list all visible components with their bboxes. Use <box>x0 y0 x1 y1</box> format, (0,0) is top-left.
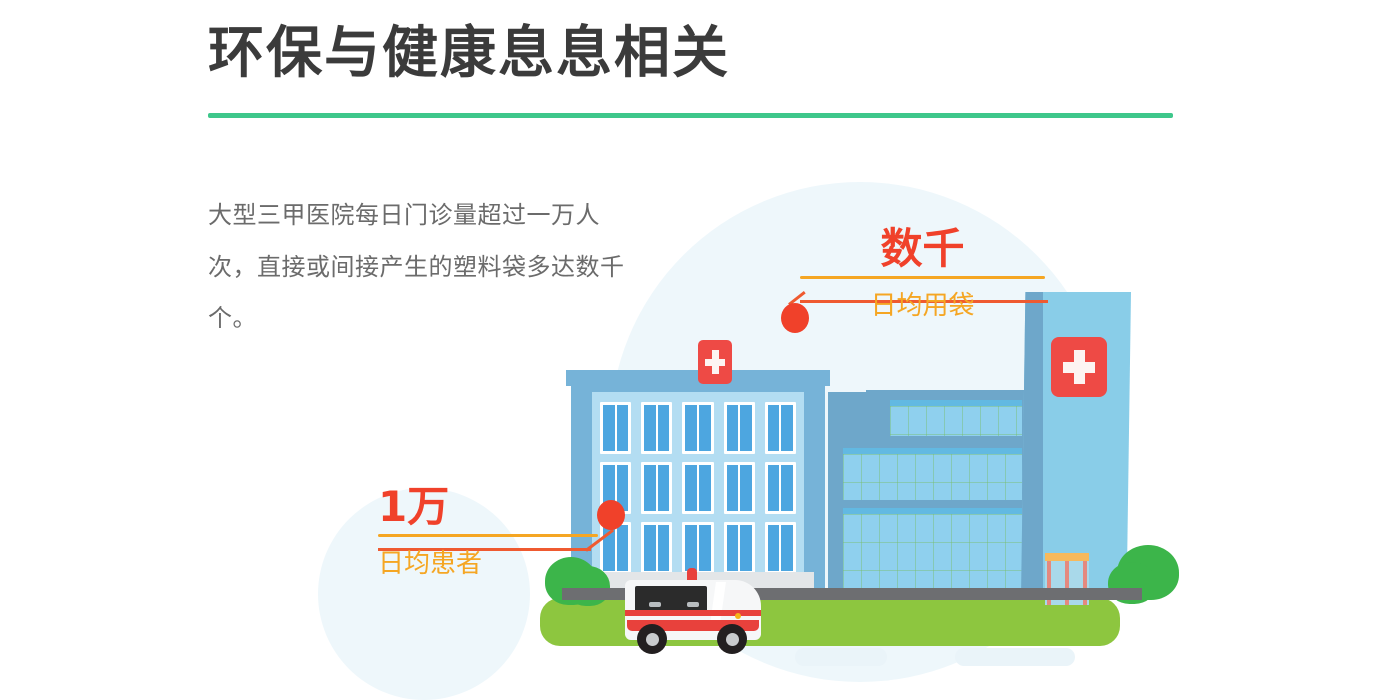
ambulance-beacon-light <box>687 568 697 580</box>
callout-value-bags: 数千 <box>800 228 1045 270</box>
red-cross-sign-icon <box>1051 337 1107 397</box>
ambulance-wheel <box>717 624 747 654</box>
hospital-campus-illustration <box>0 0 1400 700</box>
callout-patients: 1万 日均患者 <box>378 486 598 580</box>
callout-rule-patients <box>378 534 598 537</box>
callout-label-patients: 日均患者 <box>378 543 598 580</box>
ambulance-wheel <box>637 624 667 654</box>
ambulance-vehicle <box>625 566 773 662</box>
red-cross-sign-icon <box>698 340 732 384</box>
callout-value-patients: 1万 <box>378 486 598 528</box>
road-lane-marking <box>795 648 887 666</box>
callout-rule-bags <box>800 276 1045 279</box>
road-lane-marking <box>955 648 1075 666</box>
glass-curtain-panel <box>843 448 1022 500</box>
ambulance-blinker-light <box>735 613 741 619</box>
window <box>765 462 796 514</box>
window <box>641 462 672 514</box>
window <box>682 462 713 514</box>
window <box>724 462 755 514</box>
glass-curtain-panel <box>843 508 1022 596</box>
slide-canvas: 环保与健康息息相关 大型三甲医院每日门诊量超过一万人次，直接或间接产生的塑料袋多… <box>0 0 1400 700</box>
window <box>724 402 755 454</box>
callout-dot-patients <box>597 500 625 530</box>
callout-label-bags: 日均用袋 <box>800 285 1045 322</box>
main-building-window-grid <box>600 402 796 574</box>
window <box>765 402 796 454</box>
callout-bags: 数千 日均用袋 <box>800 228 1045 322</box>
window <box>682 402 713 454</box>
hospital-tower-shading <box>1021 292 1043 598</box>
window <box>641 402 672 454</box>
glass-curtain-panel <box>890 400 1022 436</box>
ambulance-door-handle <box>687 602 699 607</box>
window <box>600 402 631 454</box>
ambulance-door-handle <box>649 602 661 607</box>
